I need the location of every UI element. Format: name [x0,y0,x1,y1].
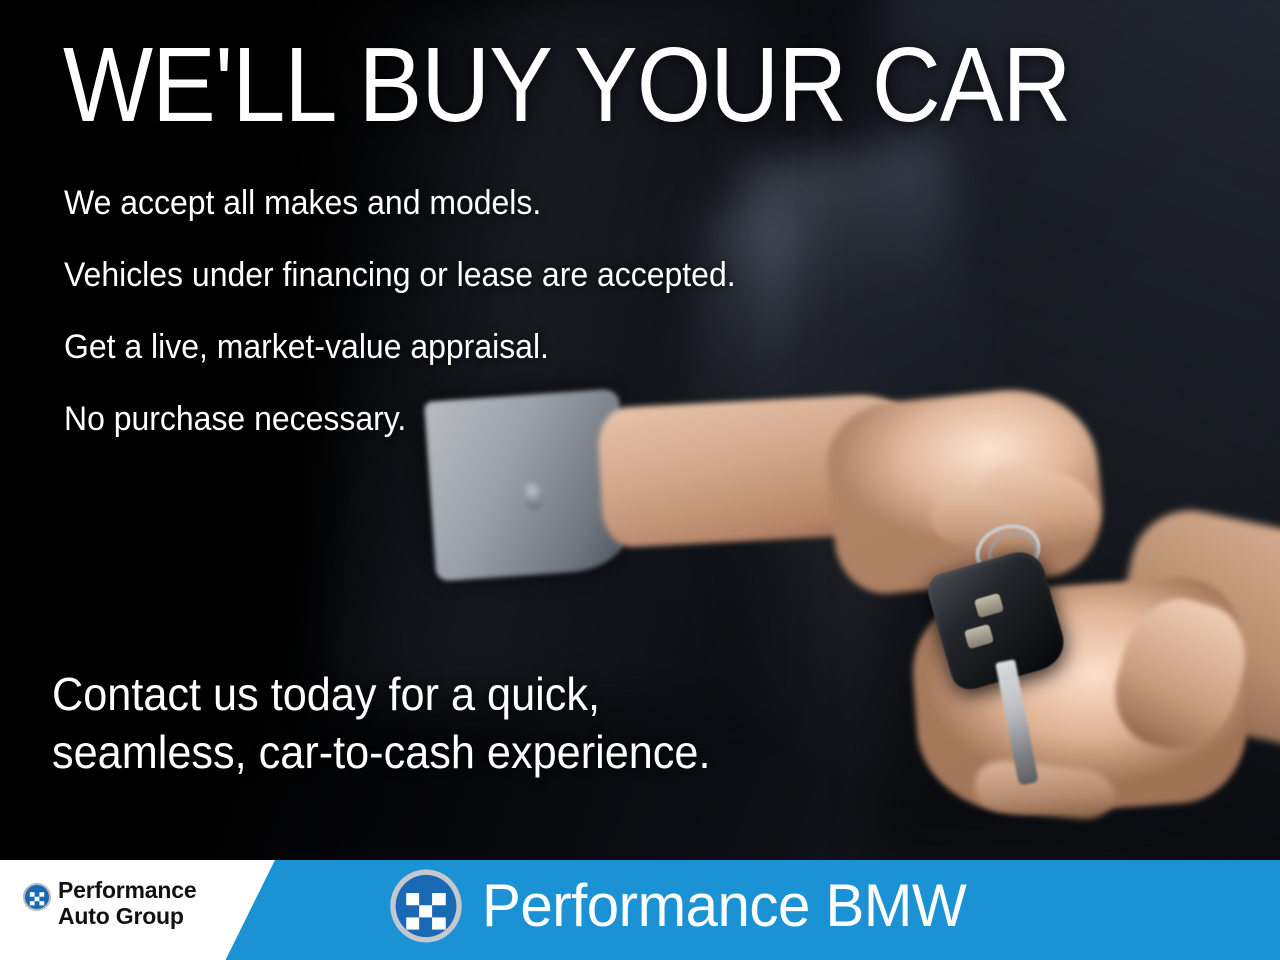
benefit-item: We accept all makes and models. [64,186,910,220]
auto-group-line-2: Auto Group [58,904,196,930]
cta-line-2: seamless, car-to-cash experience. [52,724,860,782]
ad-headline: WE'LL BUY YOUR CAR [63,32,1071,138]
benefits-list: We accept all makes and models. Vehicles… [64,186,964,474]
call-to-action: Contact us today for a quick, seamless, … [52,666,912,781]
checkered-flag-circle-icon [388,868,464,944]
we-buy-your-car-ad: WE'LL BUY YOUR CAR We accept all makes a… [0,0,1280,960]
auto-group-line-1: Performance [58,878,196,904]
auto-group-wordmark: Performance Auto Group [58,878,196,930]
benefit-item: No purchase necessary. [64,402,910,436]
benefit-item: Vehicles under financing or lease are ac… [64,258,910,292]
checkered-flag-circle-icon [22,882,52,912]
dealer-name: Performance BMW [482,876,966,936]
dealer-lockup: Performance BMW [388,868,981,944]
benefit-item: Get a live, market-value appraisal. [64,330,910,364]
cta-line-1: Contact us today for a quick, [52,666,860,724]
